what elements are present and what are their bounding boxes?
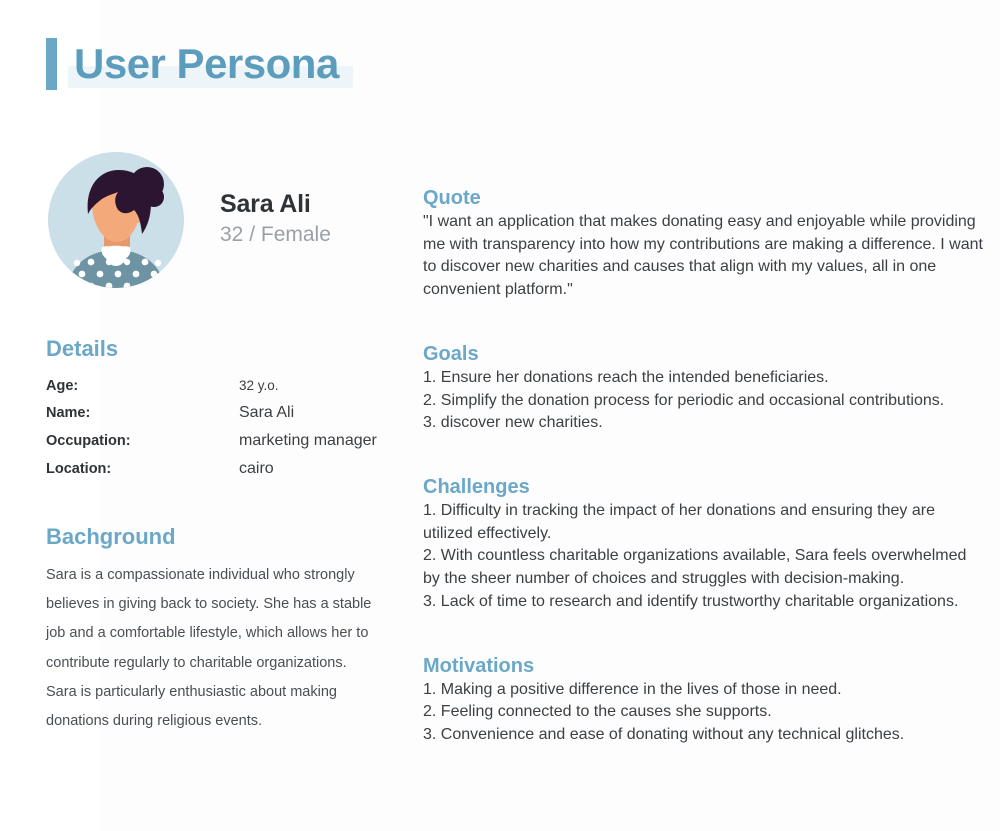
list-item: 1. Ensure her donations reach the intend… (423, 367, 983, 390)
background-text: Sara is a compassionate individual who s… (46, 561, 376, 737)
background-section: Bachground Sara is a compassionate indiv… (46, 524, 396, 736)
detail-value-age: 32 y.o. (239, 378, 396, 404)
persona-page: User Persona (0, 0, 1000, 831)
challenges-heading: Challenges (423, 475, 983, 499)
list-item: 3. discover new charities. (423, 412, 983, 435)
list-item: 2. Feeling connected to the causes she s… (423, 701, 983, 724)
person-name: Sara Ali (220, 190, 331, 219)
detail-value-name: Sara Ali (239, 404, 396, 432)
title-accent-bar (46, 38, 57, 90)
detail-label-occupation: Occupation: (46, 432, 239, 460)
table-row: Occupation: marketing manager (46, 432, 396, 460)
quote-heading: Quote (423, 186, 983, 210)
table-row: Name: Sara Ali (46, 404, 396, 432)
details-section: Details Age: 32 y.o. Name: Sara Ali Occu… (46, 336, 396, 488)
detail-label-location: Location: (46, 460, 239, 488)
list-item: 3. Lack of time to research and identify… (423, 591, 983, 614)
person-meta: 32 / Female (220, 221, 331, 248)
detail-value-location: cairo (239, 460, 396, 488)
goals-heading: Goals (423, 342, 983, 366)
list-item: 2. With countless charitable organizatio… (423, 545, 983, 590)
goals-list: 1. Ensure her donations reach the intend… (423, 367, 983, 435)
right-column: Quote "I want an application that makes … (423, 186, 983, 769)
quote-section: Quote "I want an application that makes … (423, 186, 983, 302)
details-heading: Details (46, 336, 396, 362)
background-heading: Bachground (46, 524, 396, 550)
page-title-text: User Persona (74, 43, 339, 85)
challenges-list: 1. Difficulty in tracking the impact of … (423, 500, 983, 614)
quote-text: "I want an application that makes donati… (423, 211, 983, 302)
detail-value-occupation: marketing manager (239, 432, 396, 460)
avatar (48, 152, 184, 288)
list-item: 1. Difficulty in tracking the impact of … (423, 500, 983, 545)
motivations-heading: Motivations (423, 654, 983, 678)
details-table: Age: 32 y.o. Name: Sara Ali Occupation: … (46, 378, 396, 488)
table-row: Age: 32 y.o. (46, 378, 396, 404)
detail-label-age: Age: (46, 378, 239, 404)
goals-section: Goals 1. Ensure her donations reach the … (423, 342, 983, 435)
avatar-illustration (48, 152, 184, 288)
table-row: Location: cairo (46, 460, 396, 488)
list-item: 2. Simplify the donation process for per… (423, 390, 983, 413)
motivations-list: 1. Making a positive difference in the l… (423, 679, 983, 747)
list-item: 1. Making a positive difference in the l… (423, 679, 983, 702)
motivations-section: Motivations 1. Making a positive differe… (423, 654, 983, 747)
profile-header: Sara Ali 32 / Female (46, 148, 396, 298)
left-column: Sara Ali 32 / Female Details Age: 32 y.o… (46, 148, 396, 736)
list-item: 3. Convenience and ease of donating with… (423, 724, 983, 747)
page-title: User Persona (46, 36, 339, 92)
challenges-section: Challenges 1. Difficulty in tracking the… (423, 475, 983, 614)
profile-name-block: Sara Ali 32 / Female (220, 190, 331, 248)
detail-label-name: Name: (46, 404, 239, 432)
